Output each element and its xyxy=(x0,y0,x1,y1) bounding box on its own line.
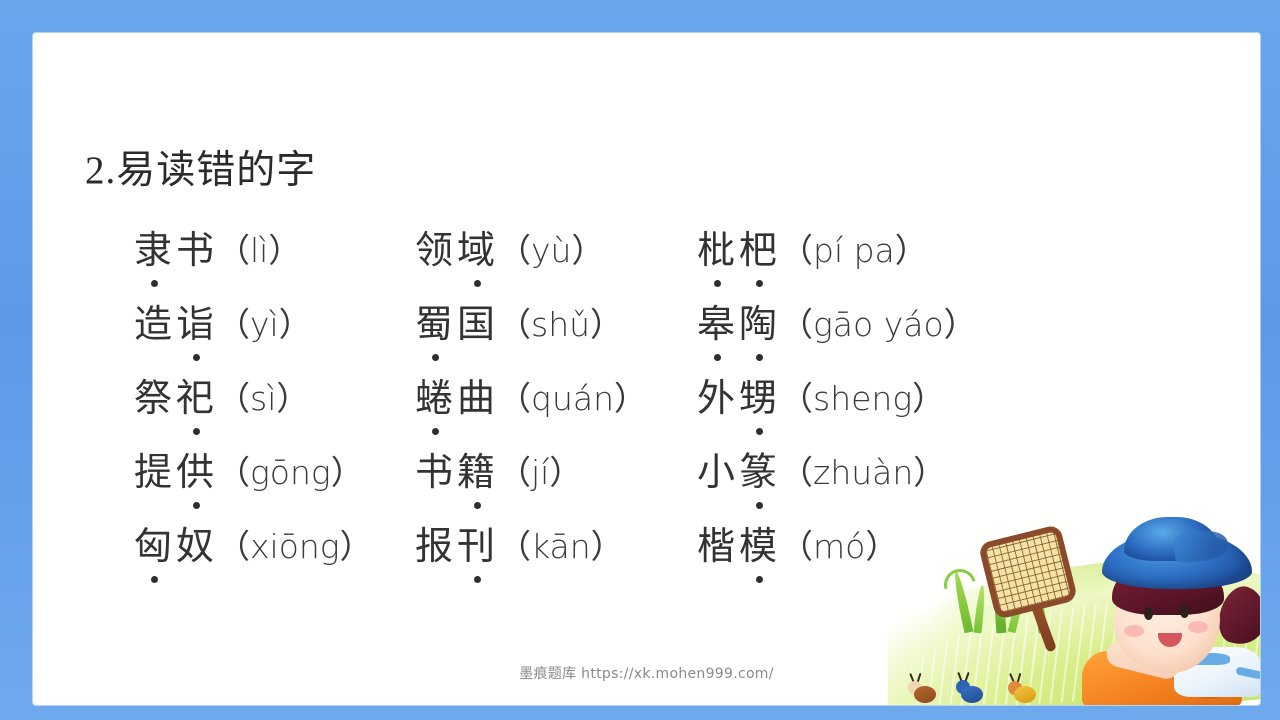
word-pinyin: （sì） xyxy=(217,374,309,424)
word-pinyin: （gōng） xyxy=(217,448,364,498)
character: 曲 xyxy=(456,374,498,424)
grass-blade-icon xyxy=(1204,589,1217,634)
marked-character: 陶 xyxy=(738,300,780,350)
slide-canvas: 2.易读错的字 隶书（lì） 领域（yù） 枇杷（pí pa） 造诣（yì） 蜀… xyxy=(33,33,1260,705)
word-entry: 隶书（lì） xyxy=(133,226,301,276)
word-row: 隶书（lì） 领域（yù） 枇杷（pí pa） xyxy=(133,226,1133,300)
eye xyxy=(1180,605,1189,618)
marked-character: 祀 xyxy=(175,374,217,424)
marked-character: 诣 xyxy=(175,300,217,350)
word-pinyin: （quán） xyxy=(498,374,647,424)
word-entry: 蜷曲（quán） xyxy=(414,374,647,424)
word-entry: 皋陶（gāo yáo） xyxy=(696,300,977,350)
marked-character: 枇 xyxy=(696,226,738,276)
word-pinyin: （lì） xyxy=(217,226,301,276)
character: 造 xyxy=(133,300,175,350)
word-entry: 小篆（zhuàn） xyxy=(696,448,946,498)
character: 提 xyxy=(133,448,175,498)
marked-character: 域 xyxy=(456,226,498,276)
word-pinyin: （xiōng） xyxy=(217,522,373,572)
character: 奴 xyxy=(175,522,217,572)
word-row: 提供（gōng） 书籍（jí） 小篆（zhuàn） xyxy=(133,448,1133,522)
word-entry: 提供（gōng） xyxy=(133,448,364,498)
word-chars: 隶书 xyxy=(133,226,217,276)
character: 领 xyxy=(414,226,456,276)
word-pinyin: （zhuàn） xyxy=(780,448,946,498)
word-pinyin: （gāo yáo） xyxy=(780,300,977,350)
word-entry: 造诣（yì） xyxy=(133,300,312,350)
word-chars: 造诣 xyxy=(133,300,217,350)
blush xyxy=(1188,621,1208,633)
word-chars: 书籍 xyxy=(414,448,498,498)
marked-character: 甥 xyxy=(738,374,780,424)
watermark-footer: 墨痕题库 https://xk.mohen999.com/ xyxy=(33,663,1260,683)
character: 楷 xyxy=(696,522,738,572)
word-chars: 外甥 xyxy=(696,374,780,424)
word-chars: 领域 xyxy=(414,226,498,276)
marked-character: 隶 xyxy=(133,226,175,276)
marked-character: 籍 xyxy=(456,448,498,498)
flower-icon xyxy=(1150,576,1163,587)
marked-character: 蜀 xyxy=(414,300,456,350)
marked-character: 蜷 xyxy=(414,374,456,424)
marked-character: 匈 xyxy=(133,522,175,572)
flower-stem xyxy=(1155,583,1158,623)
word-pinyin: （yù） xyxy=(498,226,604,276)
word-pinyin: （mó） xyxy=(780,522,898,572)
word-pinyin: （kān） xyxy=(498,522,624,572)
word-chars: 祭祀 xyxy=(133,374,217,424)
hat-crown xyxy=(1124,517,1220,561)
word-pinyin: （shǔ） xyxy=(498,300,623,350)
eye xyxy=(1144,607,1153,620)
word-chars: 小篆 xyxy=(696,448,780,498)
word-chars: 皋陶 xyxy=(696,300,780,350)
word-entry: 楷模（mó） xyxy=(696,522,898,572)
word-entry: 祭祀（sì） xyxy=(133,374,309,424)
word-pinyin: （pí pa） xyxy=(780,226,928,276)
marked-character: 篆 xyxy=(738,448,780,498)
word-chars: 枇杷 xyxy=(696,226,780,276)
ponytail xyxy=(1212,581,1260,650)
character: 祭 xyxy=(133,374,175,424)
word-entry: 书籍（jí） xyxy=(414,448,582,498)
word-chars: 匈奴 xyxy=(133,522,217,572)
character: 小 xyxy=(696,448,738,498)
word-entry: 枇杷（pí pa） xyxy=(696,226,928,276)
word-grid: 隶书（lì） 领域（yù） 枇杷（pí pa） 造诣（yì） 蜀国（shǔ） 皋… xyxy=(133,226,1133,596)
marked-character: 模 xyxy=(738,522,780,572)
page-title: 2.易读错的字 xyxy=(85,151,316,190)
character: 外 xyxy=(696,374,738,424)
word-entry: 领域（yù） xyxy=(414,226,604,276)
word-entry: 外甥（sheng） xyxy=(696,374,945,424)
word-pinyin: （jí） xyxy=(498,448,582,498)
word-row: 匈奴（xiōng） 报刊（kān） 楷模（mó） xyxy=(133,522,1133,596)
word-row: 祭祀（sì） 蜷曲（quán） 外甥（sheng） xyxy=(133,374,1133,448)
word-entry: 匈奴（xiōng） xyxy=(133,522,373,572)
word-chars: 报刊 xyxy=(414,522,498,572)
grass-stripes xyxy=(905,587,1260,705)
word-row: 造诣（yì） 蜀国（shǔ） 皋陶（gāo yáo） xyxy=(133,300,1133,374)
character: 国 xyxy=(456,300,498,350)
marked-character: 杷 xyxy=(738,226,780,276)
word-entry: 蜀国（shǔ） xyxy=(414,300,623,350)
character: 书 xyxy=(175,226,217,276)
character: 书 xyxy=(414,448,456,498)
word-chars: 楷模 xyxy=(696,522,780,572)
marked-character: 刊 xyxy=(456,522,498,572)
word-chars: 蜀国 xyxy=(414,300,498,350)
word-chars: 提供 xyxy=(133,448,217,498)
slide-background: 2.易读错的字 隶书（lì） 领域（yù） 枇杷（pí pa） 造诣（yì） 蜀… xyxy=(0,0,1280,720)
mouth xyxy=(1158,633,1182,647)
grass-blade-icon xyxy=(1184,575,1202,634)
word-pinyin: （sheng） xyxy=(780,374,945,424)
character: 报 xyxy=(414,522,456,572)
marked-character: 皋 xyxy=(696,300,738,350)
word-chars: 蜷曲 xyxy=(414,374,498,424)
marked-character: 供 xyxy=(175,448,217,498)
word-entry: 报刊（kān） xyxy=(414,522,624,572)
hat-band xyxy=(1172,527,1230,564)
word-pinyin: （yì） xyxy=(217,300,312,350)
blush xyxy=(1124,625,1144,637)
